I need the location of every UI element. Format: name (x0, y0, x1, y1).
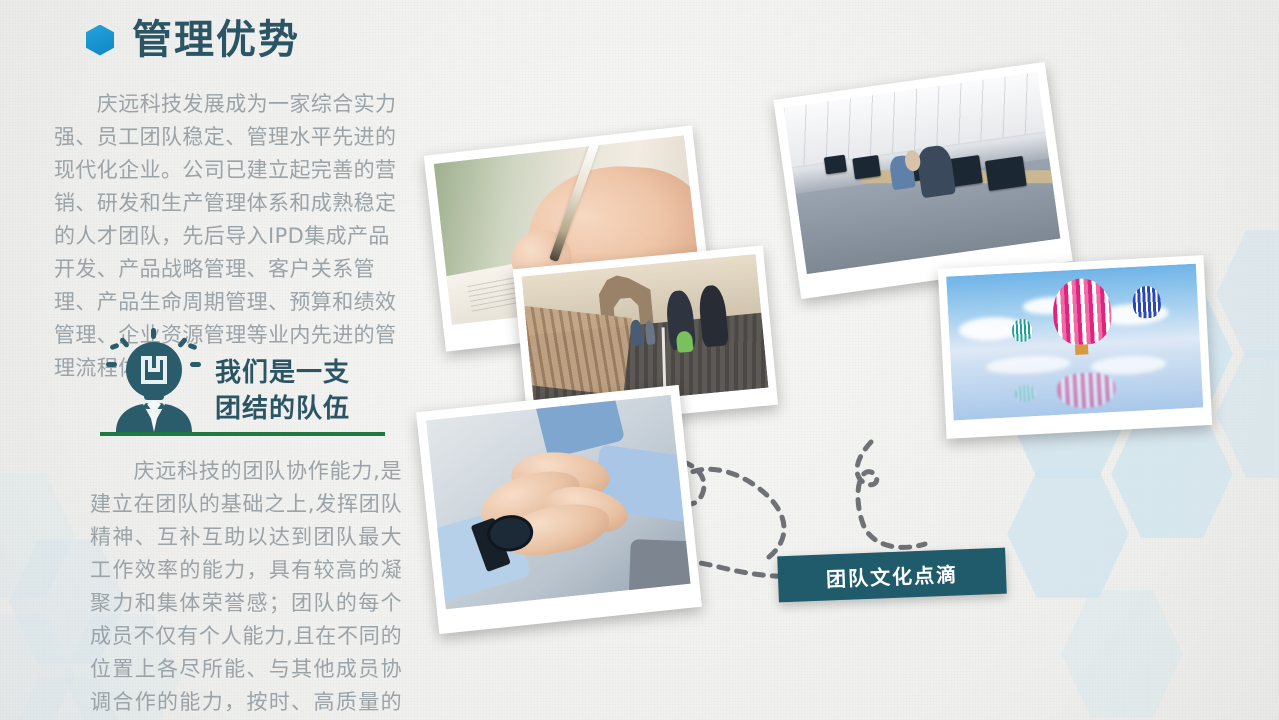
hexagon-shape (0, 470, 76, 602)
team-callout: 我们是一支 团结的队伍 (215, 355, 350, 427)
photo-hands (416, 385, 702, 634)
culture-banner-label: 团队文化点滴 (825, 558, 958, 592)
slide-header: 管理优势 (86, 20, 300, 60)
callout-underline (100, 432, 385, 436)
hexagon-icon (86, 25, 114, 56)
hexagon-shape (1006, 466, 1130, 602)
lightbulb-person-icon (100, 328, 208, 436)
photo-balloon-image (946, 264, 1203, 421)
photo-balloon (938, 255, 1213, 439)
culture-banner[interactable]: 团队文化点滴 (777, 548, 1007, 603)
presentation-slide: 管理优势 庆远科技发展成为一家综合实力强、员工团队稳定、管理水平先进的现代化企业… (0, 0, 1279, 720)
hexagon-shape (1215, 226, 1279, 362)
teamwork-paragraph: 庆远科技的团队协作能力,是建立在团队的基础之上,发挥团队精神、互补互助以达到团队… (90, 455, 402, 720)
page-title: 管理优势 (132, 20, 300, 60)
hexagon-shape (0, 610, 76, 720)
photo-lab-image (784, 72, 1061, 274)
photo-hands-image (426, 395, 691, 610)
hexagon-shape (1215, 346, 1279, 482)
hexagon-shape (1060, 586, 1184, 720)
team-callout-heading: 我们是一支 团结的队伍 (215, 355, 350, 427)
photo-bridge-image (522, 254, 769, 410)
